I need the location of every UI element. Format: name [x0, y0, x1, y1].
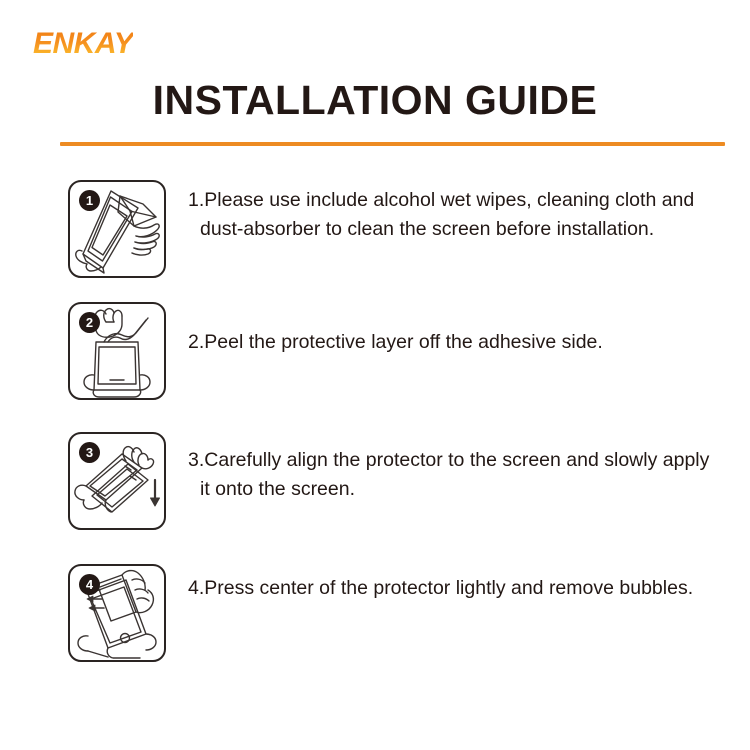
step-item: 2	[0, 302, 750, 432]
step-1-illustration: 1	[68, 180, 166, 278]
page-title: INSTALLATION GUIDE	[0, 76, 750, 124]
step-2-body: 2.Peel the protective layer off the adhe…	[166, 302, 750, 357]
brand-logo-text: ENKAY	[33, 28, 133, 60]
step-4-badge: 4	[79, 574, 100, 595]
step-2-text: 2.Peel the protective layer off the adhe…	[188, 328, 715, 357]
step-item: 1	[0, 180, 750, 302]
step-3-text: 3.Carefully align the protector to the s…	[188, 446, 715, 504]
step-3-body: 3.Carefully align the protector to the s…	[166, 432, 750, 504]
step-2-illustration: 2	[68, 302, 166, 400]
step-3-badge: 3	[79, 442, 100, 463]
step-4-illustration: 4	[68, 564, 166, 662]
steps-list: 1	[0, 180, 750, 684]
step-item: 3	[0, 432, 750, 564]
step-2-badge: 2	[79, 312, 100, 333]
brand-logo: ENKAY	[33, 28, 233, 62]
step-item: 4	[0, 564, 750, 684]
step-1-badge: 1	[79, 190, 100, 211]
step-1-text: 1.Please use include alcohol wet wipes, …	[188, 186, 715, 244]
header-divider	[60, 142, 725, 146]
step-4-body: 4.Press center of the protector lightly …	[166, 564, 750, 603]
step-1-body: 1.Please use include alcohol wet wipes, …	[166, 180, 750, 244]
step-4-text: 4.Press center of the protector lightly …	[188, 574, 715, 603]
step-3-illustration: 3	[68, 432, 166, 530]
